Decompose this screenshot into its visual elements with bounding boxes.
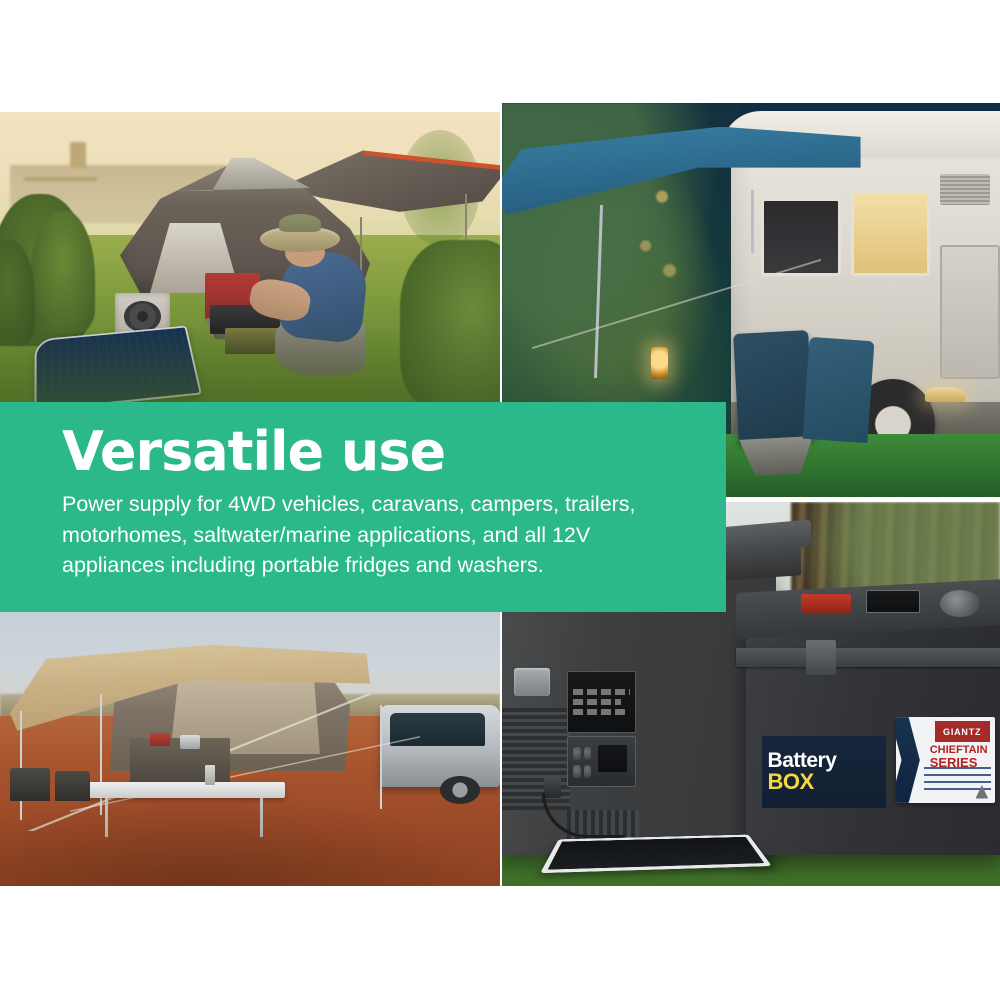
versatile-use-banner: Versatile use Power supply for 4WD vehic… (0, 402, 726, 612)
battery-box-strap (736, 648, 1000, 667)
battery-box-label-line2: BOX (768, 771, 880, 793)
portable-fridge-body (502, 571, 776, 855)
fridge-button-up[interactable] (573, 747, 580, 760)
cooking-pot-steel (180, 735, 200, 749)
fridge-power-cord (542, 793, 626, 838)
photo-camping-tent-solar-panel (0, 112, 500, 404)
giantz-chieftain-sticker: GIANTZ CHIEFTAIN SERIES (896, 717, 994, 803)
battery-box-voltmeter-display (866, 590, 921, 613)
battery-box-printed-label: Battery BOX (762, 736, 886, 807)
battery-box-strap-clip (806, 640, 836, 675)
fridge-button-power[interactable] (573, 765, 580, 778)
sticker-chevron-graphic (896, 717, 920, 803)
scene-layers (0, 112, 500, 404)
sticker-brand-badge: GIANTZ (935, 721, 990, 742)
fridge-display-screen (598, 745, 628, 773)
spec-plate-line-3 (573, 709, 624, 715)
fridge-button-down[interactable] (584, 747, 591, 760)
cooking-pot-red (150, 733, 170, 747)
caravan-roof-vent (940, 174, 990, 206)
caravan-door (940, 245, 1000, 379)
fridge-button-set[interactable] (584, 765, 591, 778)
foreground-shrub (400, 240, 500, 404)
sticker-series-line1: CHIEFTAIN (930, 744, 988, 756)
spec-plate-line-1 (573, 689, 630, 695)
battery-box-label-line1: Battery (768, 751, 880, 772)
camp-chair-1 (733, 330, 813, 444)
banner-body-text: Power supply for 4WD vehicles, caravans,… (62, 489, 682, 581)
hedge-2 (30, 211, 95, 334)
fridge-side-handle (514, 668, 550, 696)
photo-camper-trailer-outback (0, 612, 500, 886)
scene-layers (0, 612, 500, 886)
water-bottle (205, 765, 215, 784)
fridge-control-panel[interactable] (567, 736, 637, 787)
camp-lantern (651, 347, 668, 379)
caravan-window-lit (851, 190, 931, 277)
foreground-soil-shadow (0, 793, 500, 886)
ground-lamp (925, 387, 965, 403)
camp-chair-2 (802, 337, 874, 444)
bucket-hat (260, 226, 340, 252)
battery-box-red-switch[interactable] (801, 594, 851, 613)
spec-plate-line-2 (573, 699, 620, 705)
banner-heading: Versatile use (62, 424, 698, 479)
fridge-spec-plate (567, 671, 637, 734)
marketing-banner-canvas: Battery BOX GIANTZ CHIEFTAIN SERIES (0, 0, 1000, 1000)
